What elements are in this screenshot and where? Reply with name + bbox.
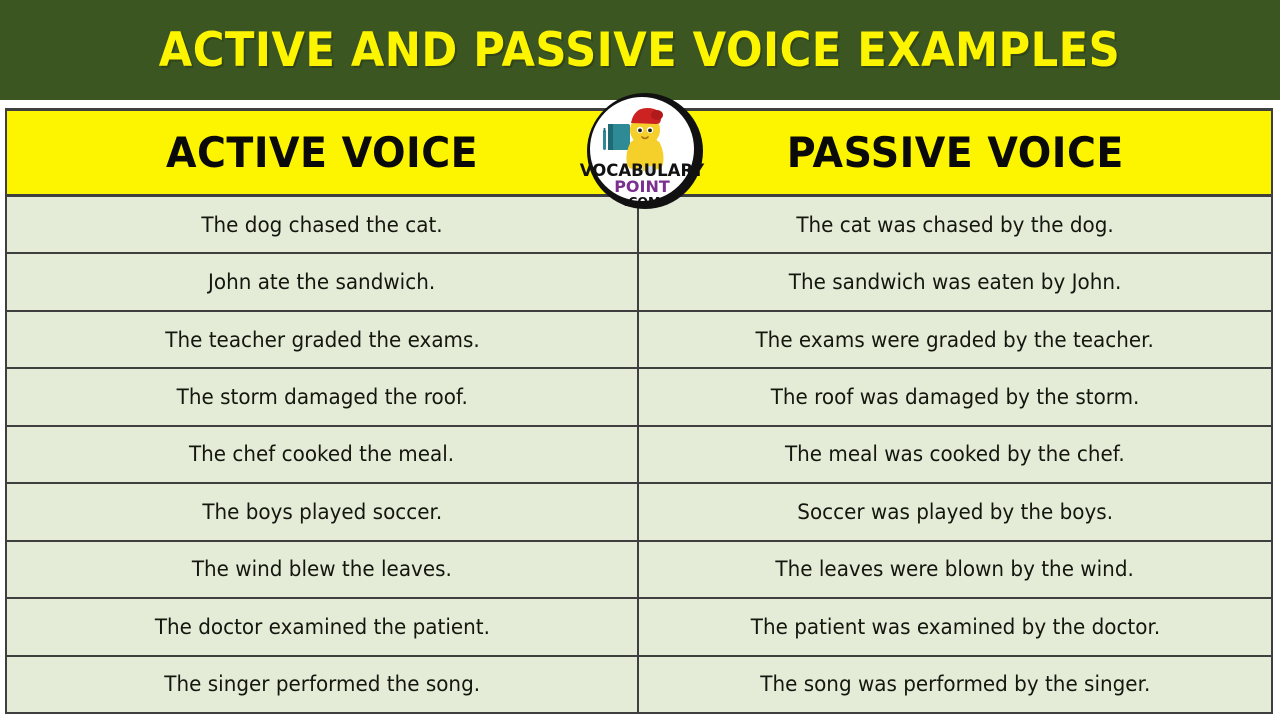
cell-passive-text: Soccer was played by the boys. xyxy=(797,500,1113,524)
vocabulary-point-logo: VOCABULARY POINT .COM xyxy=(578,92,712,210)
table-row: The chef cooked the meal. The meal was c… xyxy=(7,427,1271,484)
cell-active-text: The wind blew the leaves. xyxy=(192,557,452,581)
cell-active: The dog chased the cat. xyxy=(7,197,639,252)
logo-svg: VOCABULARY POINT .COM xyxy=(578,92,712,210)
column-header-active-label: ACTIVE VOICE xyxy=(166,128,478,177)
cell-passive-text: The patient was examined by the doctor. xyxy=(750,615,1159,639)
logo-line3: .COM xyxy=(624,194,661,209)
cell-active: John ate the sandwich. xyxy=(7,254,639,309)
cell-passive-text: The song was performed by the singer. xyxy=(760,672,1150,696)
cell-active: The wind blew the leaves. xyxy=(7,542,639,597)
cell-active: The chef cooked the meal. xyxy=(7,427,639,482)
cell-active: The storm damaged the roof. xyxy=(7,369,639,424)
table-body: The dog chased the cat. The cat was chas… xyxy=(7,197,1271,712)
cell-passive: The meal was cooked by the chef. xyxy=(639,427,1271,482)
column-header-passive: PASSIVE VOICE xyxy=(639,111,1271,194)
cell-passive-text: The roof was damaged by the storm. xyxy=(771,385,1140,409)
cell-passive-text: The leaves were blown by the wind. xyxy=(776,557,1134,581)
column-header-active: ACTIVE VOICE xyxy=(7,111,639,194)
infographic-page: ACTIVE AND PASSIVE VOICE EXAMPLES ACTIVE… xyxy=(0,0,1280,720)
cell-active-text: The teacher graded the exams. xyxy=(165,328,479,352)
banner: ACTIVE AND PASSIVE VOICE EXAMPLES xyxy=(0,0,1280,100)
cell-active: The boys played soccer. xyxy=(7,484,639,539)
cell-passive-text: The exams were graded by the teacher. xyxy=(756,328,1154,352)
page-title: ACTIVE AND PASSIVE VOICE EXAMPLES xyxy=(159,27,1120,74)
cell-passive-text: The cat was chased by the dog. xyxy=(796,213,1113,237)
cell-passive-text: The sandwich was eaten by John. xyxy=(789,270,1122,294)
cell-passive: The exams were graded by the teacher. xyxy=(639,312,1271,367)
cell-passive: The song was performed by the singer. xyxy=(639,657,1271,712)
table-row: The singer performed the song. The song … xyxy=(7,657,1271,712)
cell-passive: The cat was chased by the dog. xyxy=(639,197,1271,252)
cell-active-text: The dog chased the cat. xyxy=(201,213,442,237)
table-row: The doctor examined the patient. The pat… xyxy=(7,599,1271,656)
cell-active-text: The doctor examined the patient. xyxy=(154,615,489,639)
cell-active: The singer performed the song. xyxy=(7,657,639,712)
table-row: The teacher graded the exams. The exams … xyxy=(7,312,1271,369)
table-row: The wind blew the leaves. The leaves wer… xyxy=(7,542,1271,599)
cell-active: The teacher graded the exams. xyxy=(7,312,639,367)
cell-active-text: John ate the sandwich. xyxy=(208,270,435,294)
cell-passive-text: The meal was cooked by the chef. xyxy=(785,442,1125,466)
table-row: The storm damaged the roof. The roof was… xyxy=(7,369,1271,426)
cell-passive: The sandwich was eaten by John. xyxy=(639,254,1271,309)
cell-active-text: The chef cooked the meal. xyxy=(189,442,454,466)
cell-passive: The patient was examined by the doctor. xyxy=(639,599,1271,654)
cell-passive: Soccer was played by the boys. xyxy=(639,484,1271,539)
column-header-passive-label: PASSIVE VOICE xyxy=(786,128,1123,177)
table-row: John ate the sandwich. The sandwich was … xyxy=(7,254,1271,311)
cell-active-text: The storm damaged the roof. xyxy=(176,385,467,409)
cell-passive: The roof was damaged by the storm. xyxy=(639,369,1271,424)
table-row: The boys played soccer. Soccer was playe… xyxy=(7,484,1271,541)
cell-active-text: The boys played soccer. xyxy=(202,500,442,524)
cell-active: The doctor examined the patient. xyxy=(7,599,639,654)
cell-active-text: The singer performed the song. xyxy=(164,672,480,696)
cell-passive: The leaves were blown by the wind. xyxy=(639,542,1271,597)
